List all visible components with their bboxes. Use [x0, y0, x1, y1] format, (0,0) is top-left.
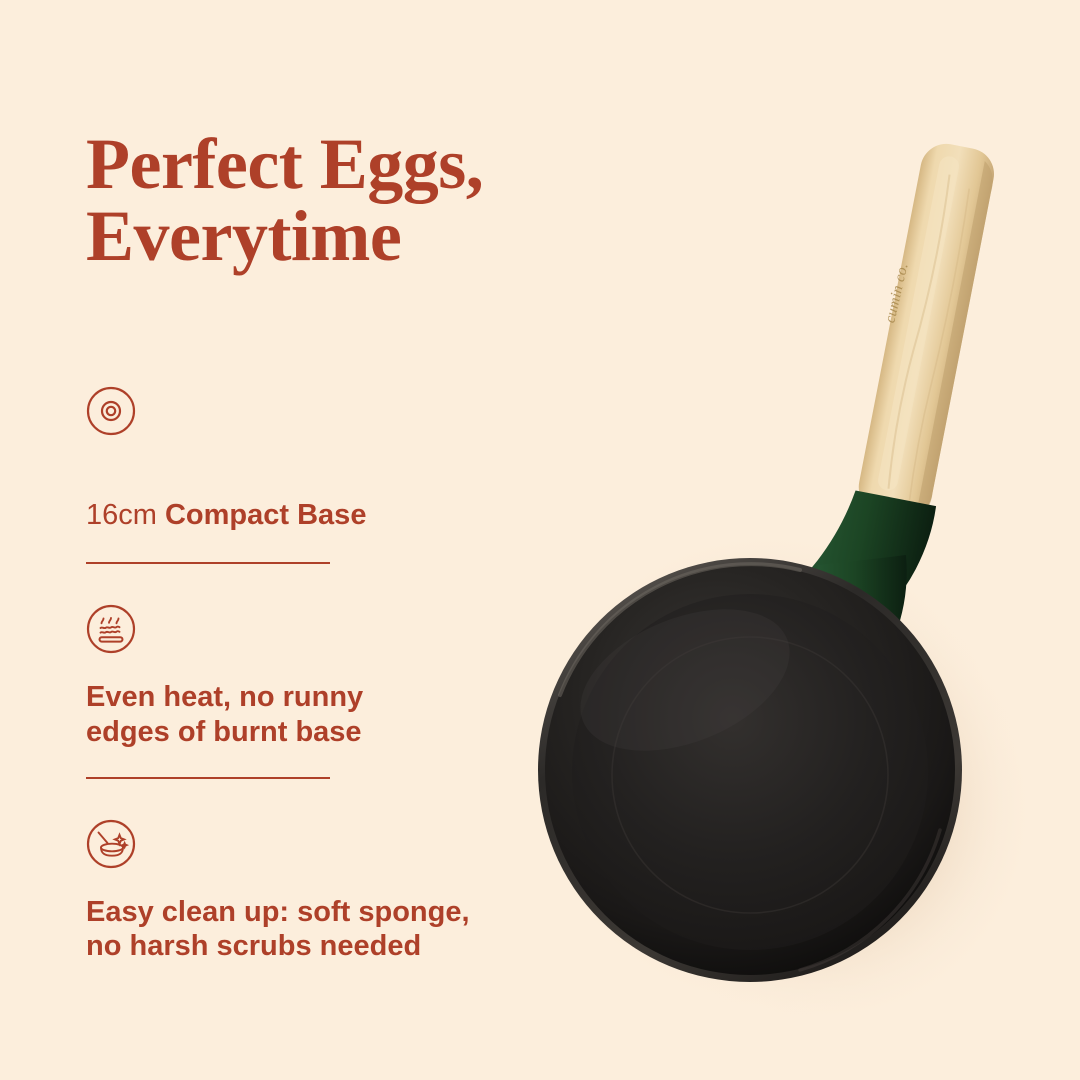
- feature-label-compact-base: 16cm Compact Base: [86, 464, 546, 532]
- sparkling-pan-icon: [86, 819, 136, 869]
- feature-divider: [86, 562, 330, 564]
- feature-size-value: 16cm: [86, 499, 165, 531]
- product-feature-card: Perfect Eggs, Everytime 16cm Compact Bas…: [0, 0, 1080, 1080]
- feature-divider: [86, 777, 330, 779]
- feature-label-even-heat: Even heat, no runny edges of burnt base: [86, 680, 546, 748]
- concentric-circles-icon: [86, 386, 136, 436]
- feature-item-compact-base: 16cm Compact Base: [86, 386, 546, 564]
- feature-size-label: Compact Base: [165, 499, 366, 531]
- feature-item-even-heat: Even heat, no runny edges of burnt base: [86, 604, 546, 778]
- heat-waves-icon: [86, 604, 136, 654]
- feature-label-easy-clean: Easy clean up: soft sponge, no harsh scr…: [86, 895, 546, 963]
- feature-list: 16cm Compact Base Even heat, no runny ed…: [86, 386, 546, 963]
- feature-item-easy-clean: Easy clean up: soft sponge, no harsh scr…: [86, 819, 546, 963]
- product-image-frying-pan: [500, 110, 1080, 1050]
